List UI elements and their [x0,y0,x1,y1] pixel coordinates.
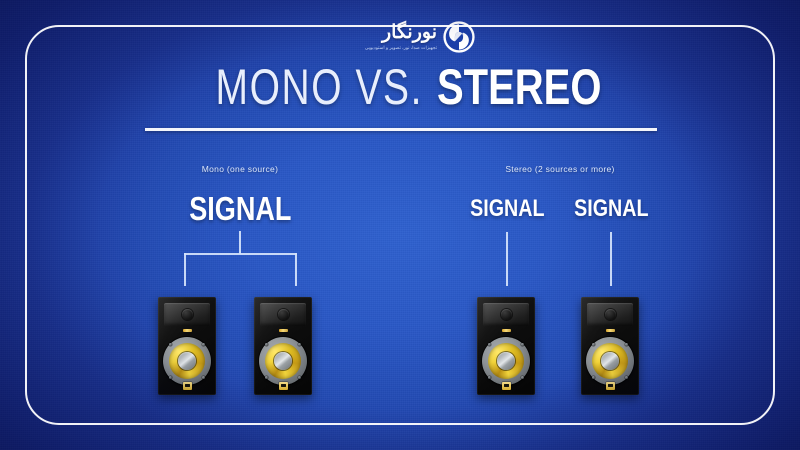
brand-logo-word: نورنگار [382,23,437,42]
mono-connector-drop-left [184,253,186,286]
woofer-screw [625,343,628,346]
stereo-speaker-right [581,297,639,395]
woofer-screw [521,343,524,346]
mono-signal-label: SIGNAL [150,192,330,225]
brand-strip [183,329,192,332]
title-divider [145,128,657,131]
mono-caption: Mono (one source) [150,164,330,174]
woofer-driver-icon [482,337,530,385]
mono-connector-bar [184,253,297,255]
stereo-signal-text-left: SIGNAL [470,197,544,221]
infographic-canvas: نورنگار تجهیزات صدا، نور، تصویر و استودی… [0,0,800,450]
woofer-screw [169,376,172,379]
stereo-speaker-left [477,297,535,395]
tweeter-dome-icon [501,309,512,320]
woofer-screw [298,376,301,379]
mono-speaker-right [254,297,312,395]
woofer-cone [592,343,628,379]
tweeter-horn-icon [260,303,306,326]
brand-strip [502,329,511,332]
woofer-dustcap [178,352,196,370]
woofer-dustcap [601,352,619,370]
tweeter-horn-icon [164,303,210,326]
stereo-connector-right [610,232,612,286]
woofer-dustcap [497,352,515,370]
tweeter-horn-icon [587,303,633,326]
stereo-caption: Stereo (2 sources or more) [465,164,655,174]
speaker-brand-logo-icon [502,382,511,390]
stereo-signal-text-right: SIGNAL [574,197,648,221]
woofer-driver-icon [586,337,634,385]
mono-connector-drop-right [295,253,297,286]
woofer-dustcap [274,352,292,370]
woofer-driver-icon [259,337,307,385]
tweeter-dome-icon [605,309,616,320]
woofer-cone [488,343,524,379]
woofer-screw [521,376,524,379]
page-title: MONO VS.STEREO [0,62,800,112]
speaker-brand-logo-icon [183,382,192,390]
woofer-screw [169,343,172,346]
speaker-brand-logo-icon [606,382,615,390]
brand-strip [279,329,288,332]
woofer-cone [265,343,301,379]
woofer-screw [592,376,595,379]
mono-connector-stem [239,231,241,254]
mono-speaker-left [158,297,216,395]
stereo-connector-left [506,232,508,286]
woofer-screw [592,343,595,346]
swirl-circle-icon [442,20,476,54]
tweeter-horn-icon [483,303,529,326]
woofer-screw [265,343,268,346]
mono-signal-text: SIGNAL [189,192,291,225]
brand-strip [606,329,615,332]
brand-logo-text: نورنگار تجهیزات صدا، نور، تصویر و استودی… [365,18,437,50]
woofer-screw [298,343,301,346]
woofer-screw [202,343,205,346]
woofer-screw [488,376,491,379]
woofer-screw [265,376,268,379]
page-title-light: MONO VS. [216,62,424,112]
stereo-signal-label-left: SIGNAL [452,197,562,221]
page-title-bold: STEREO [437,62,601,112]
woofer-cone [169,343,205,379]
woofer-driver-icon [163,337,211,385]
speaker-brand-logo-icon [279,382,288,390]
woofer-screw [625,376,628,379]
woofer-screw [488,343,491,346]
brand-logo-subtitle: تجهیزات صدا، نور، تصویر و استودیویی [365,45,437,50]
tweeter-dome-icon [278,309,289,320]
tweeter-dome-icon [182,309,193,320]
stereo-signal-label-right: SIGNAL [556,197,666,221]
woofer-screw [202,376,205,379]
